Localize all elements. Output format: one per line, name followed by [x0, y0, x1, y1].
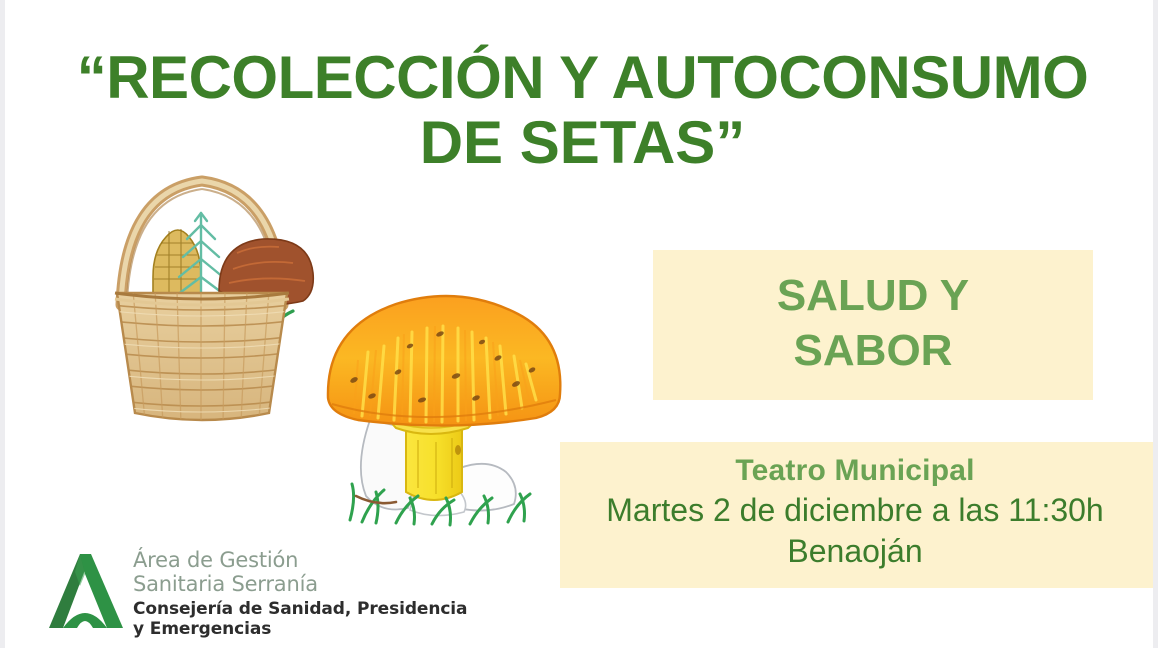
page-title: “RECOLECCIÓN Y AUTOCONSUMO DE SETAS” — [65, 46, 1100, 176]
organization-area-line-1: Área de Gestión — [133, 549, 467, 573]
salud-line-2: SABOR — [653, 323, 1093, 378]
organization-area-name: Área de Gestión Sanitaria Serranía — [133, 549, 467, 596]
page-title-line-1: “RECOLECCIÓN Y AUTOCONSUMO — [65, 46, 1100, 111]
organization-logo-text: Área de Gestión Sanitaria Serranía Conse… — [133, 549, 467, 640]
amanita-caesarea-mushroom-illustration — [310, 280, 585, 530]
basket-body-icon — [113, 291, 291, 425]
organization-department-line-2: y Emergencias — [133, 619, 467, 639]
wicker-basket-with-mushrooms-illustration — [77, 165, 327, 425]
andalucia-a-logo-icon — [47, 550, 125, 632]
organization-department-name: Consejería de Sanidad, Presidencia y Eme… — [133, 599, 467, 640]
venue-datetime: Martes 2 de diciembre a las 11:30h — [545, 490, 1158, 531]
poster-canvas: “RECOLECCIÓN Y AUTOCONSUMO DE SETAS” — [0, 0, 1158, 648]
organization-logo-block: Área de Gestión Sanitaria Serranía Conse… — [47, 548, 467, 640]
organization-department-line-1: Consejería de Sanidad, Presidencia — [133, 599, 467, 619]
mushroom-cap-icon — [328, 296, 560, 426]
venue-name: Teatro Municipal — [545, 452, 1158, 490]
salud-sabor-text: SALUD Y SABOR — [653, 268, 1093, 378]
venue-details-text: Teatro Municipal Martes 2 de diciembre a… — [545, 452, 1158, 572]
salud-line-1: SALUD Y — [653, 268, 1093, 323]
organization-area-line-2: Sanitaria Serranía — [133, 573, 467, 597]
venue-location: Benaoján — [545, 531, 1158, 572]
